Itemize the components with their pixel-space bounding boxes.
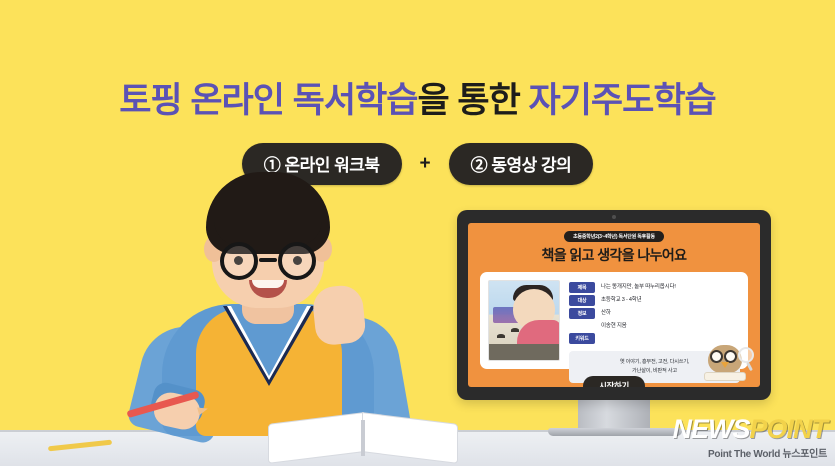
hand-on-chin	[311, 284, 367, 347]
glasses-lens-right	[278, 242, 316, 280]
owl-book	[704, 372, 746, 381]
glasses-bridge	[259, 258, 277, 262]
headline-part2: 을 통한	[417, 81, 519, 120]
monitor-screen: 초등중학년2(3~4학년) 독서단원 독후활동 책을 읽고 생각을 나누어요 제…	[468, 223, 760, 387]
row-label-title: 제목	[569, 282, 595, 293]
logo-point-text: POINT	[749, 414, 827, 444]
cover-bird-2	[511, 328, 519, 332]
webcam-icon	[612, 215, 616, 219]
cover-bird-1	[497, 334, 505, 338]
lesson-title: 책을 읽고 생각을 나누어요	[468, 245, 760, 265]
monitor: 초등중학년2(3~4학년) 독서단원 독후활동 책을 읽고 생각을 나누어요 제…	[457, 210, 771, 400]
table-row: 정보 산하	[569, 308, 740, 319]
glasses-lens-left	[220, 242, 258, 280]
hair-fringe	[214, 220, 322, 246]
mouth	[249, 280, 287, 298]
headline-part1: 토핑 온라인 독서학습	[119, 81, 417, 120]
magnifier-icon	[738, 347, 754, 363]
row-label-target: 대상	[569, 295, 595, 306]
magnifier-handle	[746, 362, 753, 371]
student-photo	[118, 166, 418, 436]
head	[212, 184, 324, 308]
monitor-stand-neck	[578, 398, 650, 430]
headline-part3: 자기주도학습	[520, 81, 716, 120]
logo-tagline: Point The World 뉴스포인트	[672, 445, 827, 460]
book-page-right	[362, 412, 458, 464]
row-label-keyword: 키워드	[569, 333, 595, 344]
monitor-stand-base	[548, 428, 682, 436]
lesson-badge: 초등중학년2(3~4학년) 독서단원 독후활동	[564, 231, 664, 242]
book-page-left	[268, 412, 364, 464]
table-row: 대상 초등학교 3 - 4학년	[569, 295, 740, 306]
table-row: 제목 나는 똥개지만, 놀부 따누리옵시다!	[569, 282, 740, 293]
row-label-info: 정보	[569, 308, 595, 319]
row-value-target: 초등학교 3 - 4학년	[601, 295, 642, 305]
book-spine	[361, 420, 365, 456]
owl-beak	[721, 362, 729, 368]
teeth	[252, 280, 284, 288]
book-cover-image	[488, 280, 560, 361]
logo-wordmark: NEWSPOINT	[672, 416, 827, 443]
owl-mascot-icon	[702, 341, 756, 381]
book-author: 이송현 지음	[569, 321, 740, 331]
pill-video-lecture[interactable]: ② 동영상 강의	[449, 143, 594, 185]
logo-news-text: NEWS	[672, 414, 749, 444]
newspoint-logo: NEWSPOINT Point The World 뉴스포인트	[672, 416, 827, 460]
row-value-info: 산하	[601, 308, 611, 318]
page-title: 토핑 온라인 독서학습을 통한 자기주도학습	[0, 72, 835, 123]
plus-separator: +	[416, 153, 435, 175]
open-book	[268, 412, 458, 458]
promo-banner: 토핑 온라인 독서학습을 통한 자기주도학습 ① 온라인 워크북 + ② 동영상…	[0, 0, 835, 466]
start-button[interactable]: 시작하기	[583, 376, 645, 387]
cover-ground	[489, 344, 559, 360]
row-value-title: 나는 똥개지만, 놀부 따누리옵시다!	[601, 282, 676, 292]
